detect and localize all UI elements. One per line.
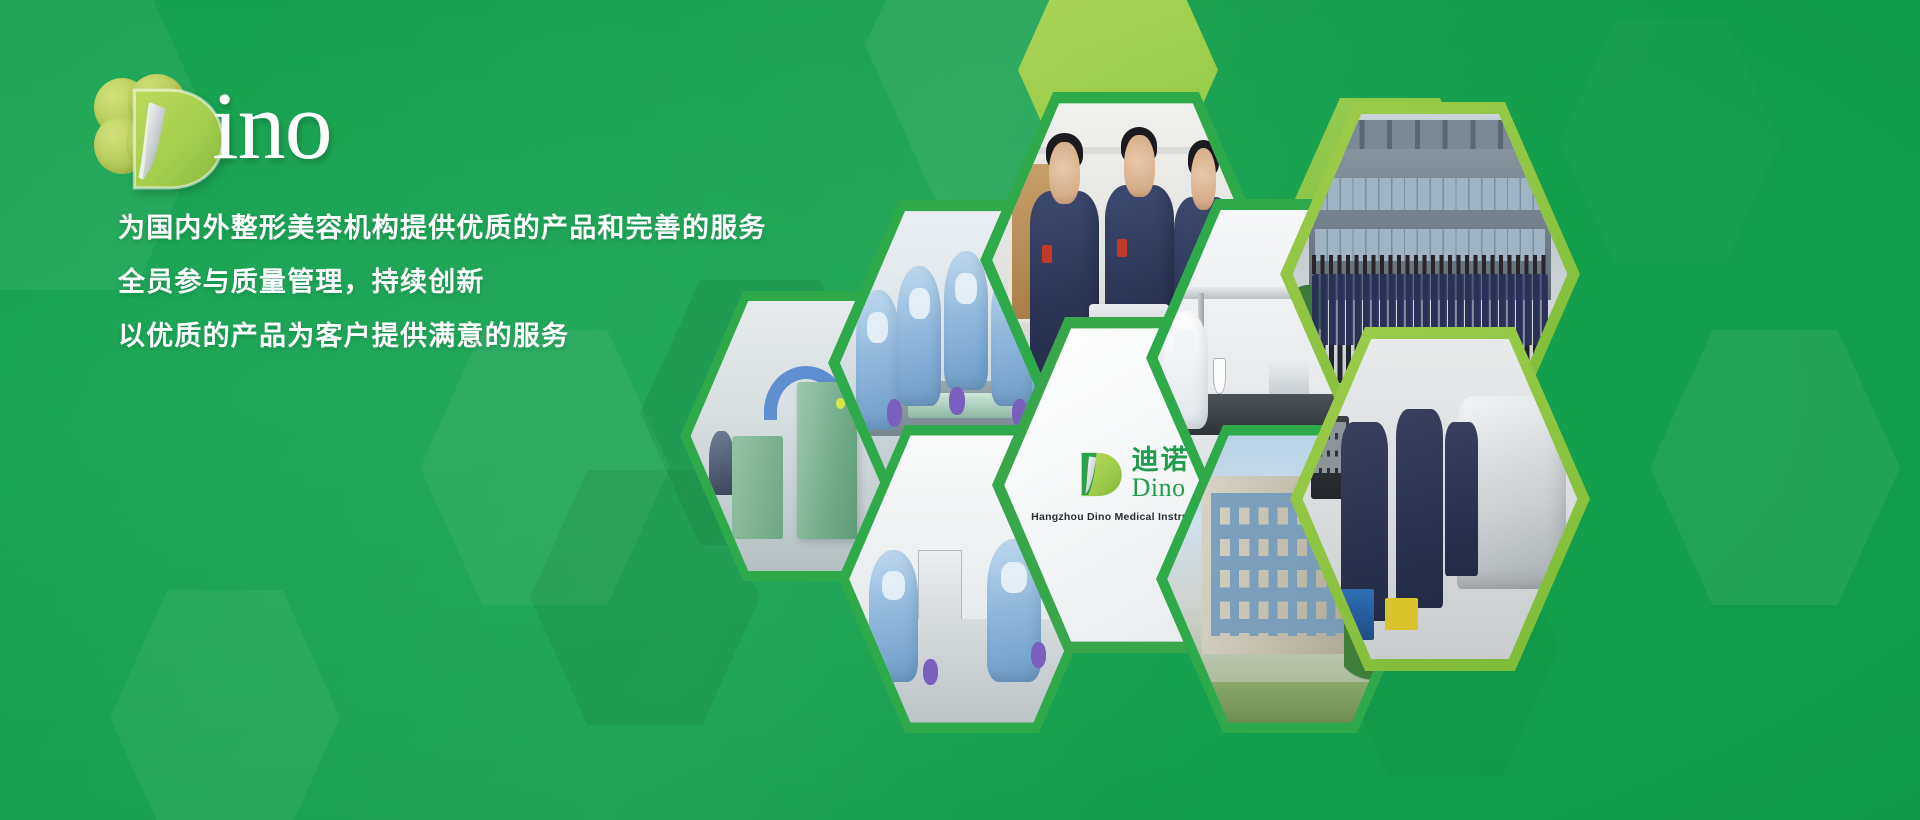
logo-english-name: Dino	[1132, 475, 1186, 501]
dino-wordmark: ino	[92, 72, 432, 182]
logo-chinese-text: 迪诺	[1132, 445, 1190, 475]
company-banner: ino 为国内外整形美容机构提供优质的产品和完善的服务 全员参与质量管理，持续创…	[0, 0, 1920, 820]
hexagon-photo-cluster: 迪诺® Dino Hangzhou Dino Medical Instrumen…	[660, 95, 1920, 715]
dino-d-leaf-icon-small	[1078, 451, 1124, 497]
logo-lockup: 迪诺® Dino	[1078, 447, 1199, 501]
wordmark-text: ino	[212, 78, 332, 174]
